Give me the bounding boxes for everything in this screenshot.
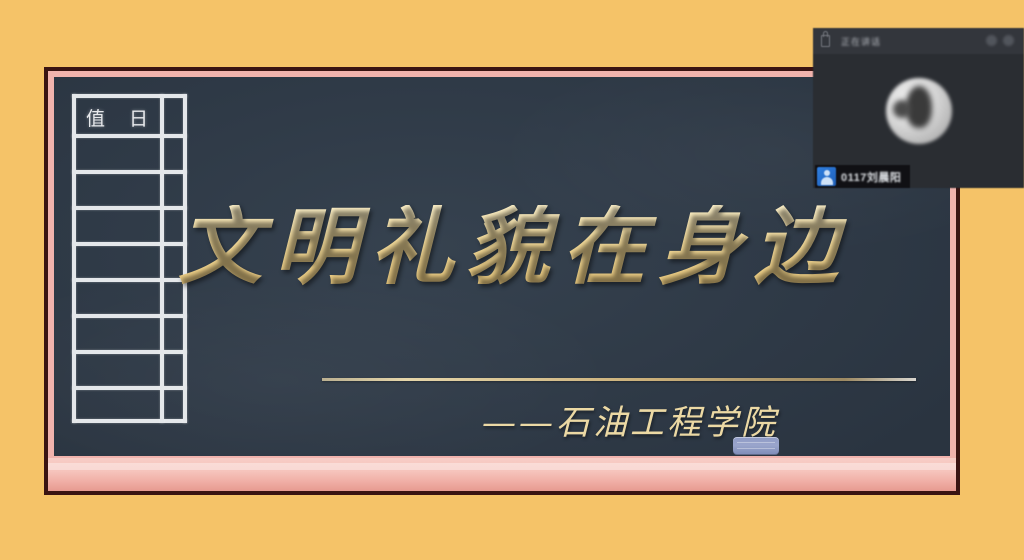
overlay-window-actions[interactable] xyxy=(986,35,1014,46)
participant-name-bar: 0117刘晨阳 xyxy=(815,165,910,188)
chalk-ledge xyxy=(48,458,956,491)
overlay-titlebar[interactable]: 正在讲话 xyxy=(813,28,1024,54)
video-call-overlay[interactable]: 正在讲话 0117刘晨阳 xyxy=(813,28,1024,188)
chalk-eraser xyxy=(733,437,779,455)
ledge-highlight xyxy=(48,463,956,470)
title-divider xyxy=(322,378,916,381)
roster-hline xyxy=(72,314,187,318)
minimize-icon[interactable] xyxy=(986,35,997,46)
speaker-silhouette-secondary xyxy=(893,100,911,118)
participant-avatar-icon xyxy=(817,167,836,186)
overlay-window-title: 正在讲话 xyxy=(841,35,881,48)
page-subtitle: ——石油工程学院 xyxy=(54,395,950,444)
roster-hline xyxy=(72,94,187,98)
slide-canvas: 值 日 文明礼貌在身边 ——石油工程学院 正在讲话 xyxy=(0,0,1024,560)
close-icon[interactable] xyxy=(1003,35,1014,46)
roster-hline xyxy=(72,170,187,174)
page-title: 文明礼貌在身边 xyxy=(54,205,950,289)
roster-hline xyxy=(72,386,187,390)
participant-name-label: 0117刘晨阳 xyxy=(841,169,901,185)
eraser-groove xyxy=(737,442,775,443)
lock-icon xyxy=(821,35,830,47)
roster-header-label: 值 日 xyxy=(86,104,157,131)
speaker-video-thumbnail xyxy=(886,78,952,144)
roster-hline xyxy=(72,134,187,138)
overlay-video-area[interactable]: 0117刘晨阳 xyxy=(813,54,1024,188)
roster-hline xyxy=(72,350,187,354)
eraser-groove xyxy=(737,448,775,449)
